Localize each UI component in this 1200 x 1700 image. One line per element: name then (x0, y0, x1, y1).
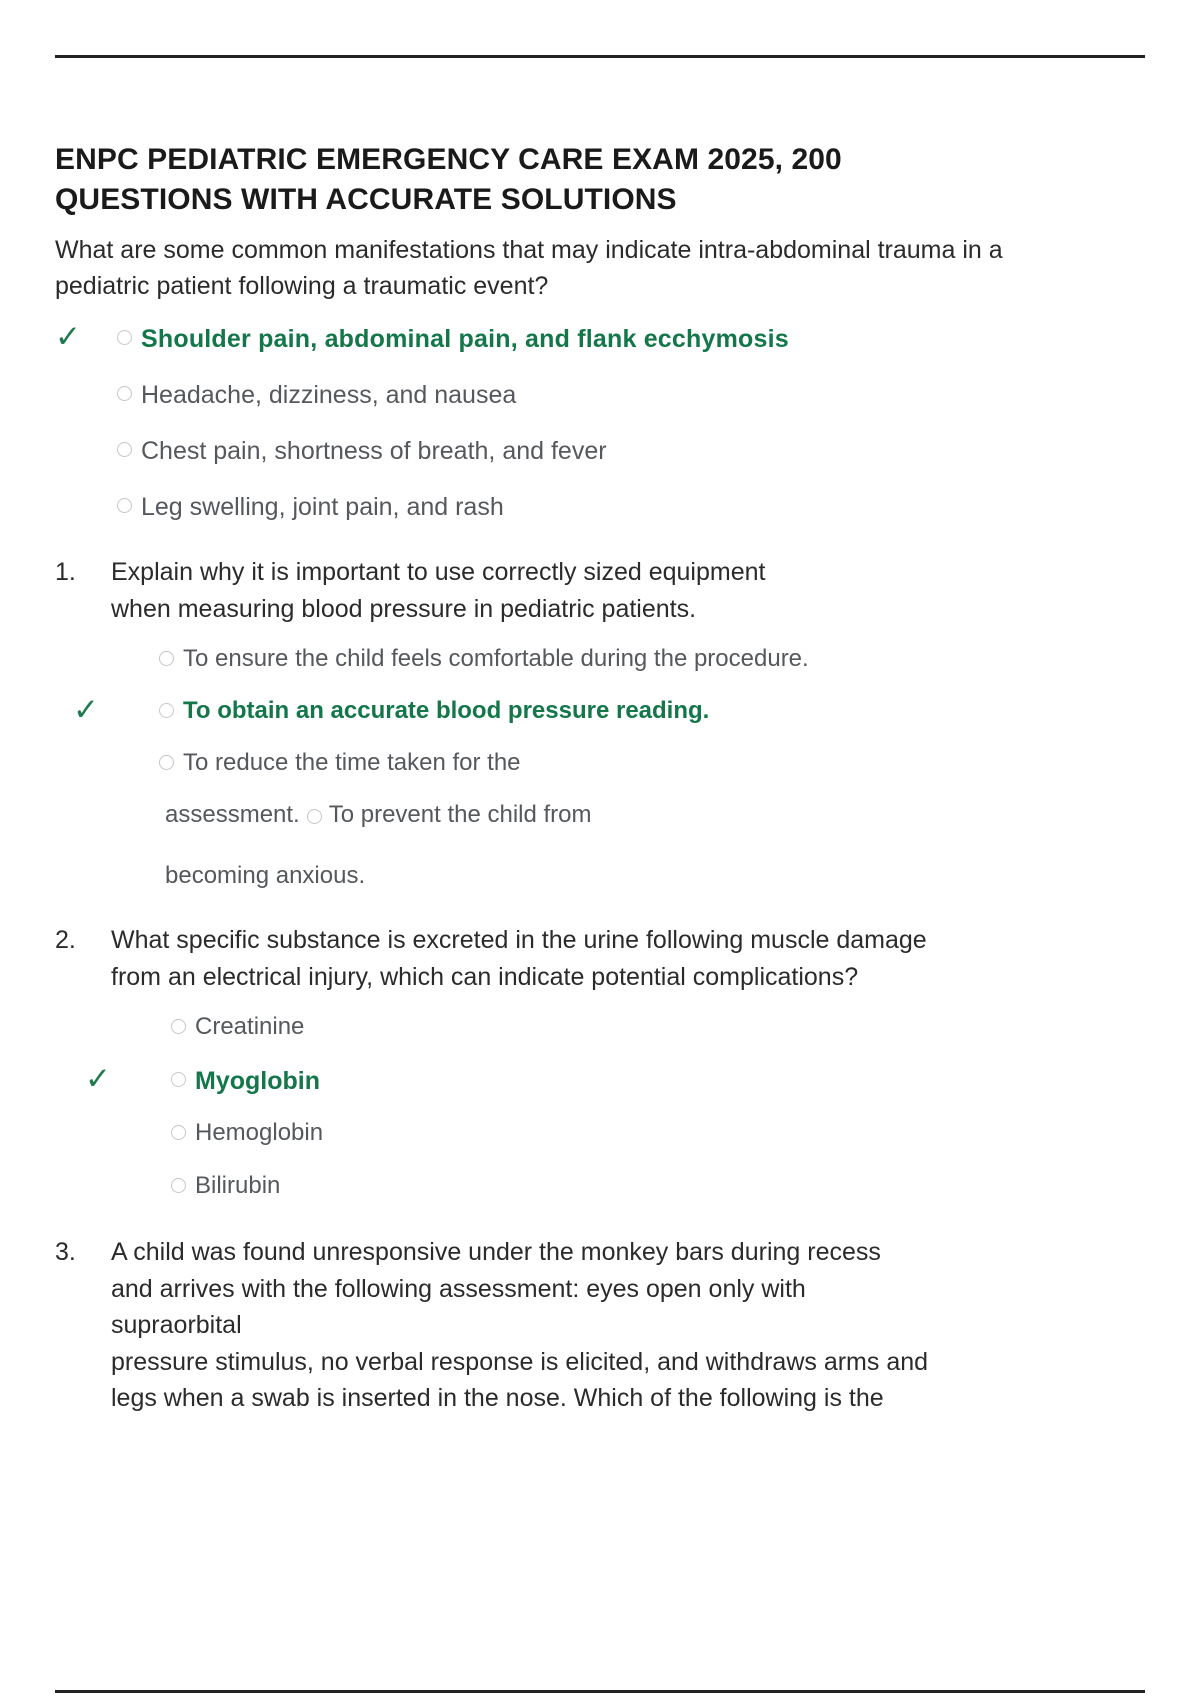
radio-icon[interactable] (117, 442, 132, 457)
correct-answer-indicator (73, 643, 159, 644)
continuation-text-before: becoming anxious. (165, 860, 365, 893)
question-prompt: What specific substance is excreted in t… (111, 922, 927, 995)
radio-icon[interactable] (171, 1019, 186, 1034)
question-prompt: Explain why it is important to use corre… (111, 554, 765, 627)
page-title: ENPC PEDIATRIC EMERGENCY CARE EXAM 2025,… (55, 140, 955, 219)
question-block-3: 3. A child was found unresponsive under … (55, 1234, 1145, 1417)
option-label: Leg swelling, joint pain, and rash (141, 490, 504, 524)
option-label: To obtain an accurate blood pressure rea… (183, 695, 709, 728)
question-number: 1. (55, 554, 111, 591)
option-row[interactable]: ✓ Myoglobin (85, 1064, 1145, 1098)
question-2-options: Creatinine ✓ Myoglobin Hemoglobin (55, 1011, 1145, 1204)
correct-answer-indicator: ✓ (85, 1064, 171, 1096)
question-prompt: A child was found unresponsive under the… (111, 1234, 928, 1417)
radio-icon[interactable] (159, 651, 174, 666)
option-row[interactable]: To ensure the child feels comfortable du… (73, 643, 1145, 677)
question-block-1: 1. Explain why it is important to use co… (55, 554, 1145, 892)
correct-answer-indicator: ✓ (73, 695, 159, 727)
correct-answer-indicator (85, 1011, 171, 1012)
lead-question-options: ✓ Shoulder pain, abdominal pain, and fla… (55, 322, 1145, 524)
radio-icon[interactable] (307, 809, 322, 824)
option-row[interactable]: Bilirubin (85, 1170, 1145, 1204)
continuation-text-before: assessment. (165, 799, 300, 832)
continuation-text-after: To prevent the child from (329, 799, 592, 832)
document-content: ENPC PEDIATRIC EMERGENCY CARE EXAM 2025,… (55, 140, 1145, 1417)
question-1-options: To ensure the child feels comfortable du… (55, 643, 1145, 781)
option-row[interactable]: To reduce the time taken for the (73, 747, 1145, 781)
correct-answer-indicator (55, 490, 117, 491)
option-row[interactable]: Hemoglobin (85, 1117, 1145, 1151)
correct-answer-indicator (55, 434, 117, 435)
option-continuation-line: becoming anxious. (165, 860, 1145, 893)
option-row[interactable]: Leg swelling, joint pain, and rash (55, 490, 1145, 524)
option-label: To ensure the child feels comfortable du… (183, 643, 809, 676)
check-icon: ✓ (55, 321, 81, 352)
correct-answer-indicator (85, 1117, 171, 1118)
question-number: 3. (55, 1234, 111, 1271)
radio-icon[interactable] (159, 703, 174, 718)
option-label: Shoulder pain, abdominal pain, and flank… (141, 322, 789, 356)
radio-icon[interactable] (117, 330, 132, 345)
radio-icon[interactable] (171, 1125, 186, 1140)
option-row[interactable]: Headache, dizziness, and nausea (55, 378, 1145, 412)
question-block-2: 2. What specific substance is excreted i… (55, 922, 1145, 1204)
option-label: Hemoglobin (195, 1117, 323, 1150)
correct-answer-indicator (73, 747, 159, 748)
radio-icon[interactable] (171, 1178, 186, 1193)
option-label: Creatinine (195, 1011, 304, 1044)
radio-icon[interactable] (117, 386, 132, 401)
option-label: To reduce the time taken for the (183, 747, 521, 780)
option-row[interactable]: ✓ To obtain an accurate blood pressure r… (73, 695, 1145, 729)
option-label: Chest pain, shortness of breath, and fev… (141, 434, 607, 468)
option-label: Myoglobin (195, 1064, 320, 1098)
question-heading: 3. A child was found unresponsive under … (55, 1234, 1145, 1417)
page-bottom-rule (55, 1690, 1145, 1693)
correct-answer-indicator (85, 1170, 171, 1171)
lead-question-prompt: What are some common manifestations that… (55, 233, 1005, 304)
question-heading: 2. What specific substance is excreted i… (55, 922, 1145, 995)
option-label: Headache, dizziness, and nausea (141, 378, 516, 412)
check-icon: ✓ (73, 694, 99, 725)
radio-icon[interactable] (159, 755, 174, 770)
question-heading: 1. Explain why it is important to use co… (55, 554, 1145, 627)
document-page: ENPC PEDIATRIC EMERGENCY CARE EXAM 2025,… (0, 0, 1200, 1700)
option-row[interactable]: Chest pain, shortness of breath, and fev… (55, 434, 1145, 468)
radio-icon[interactable] (117, 498, 132, 513)
check-icon: ✓ (85, 1063, 111, 1094)
page-top-rule (55, 55, 1145, 58)
correct-answer-indicator: ✓ (55, 322, 117, 354)
question-number: 2. (55, 922, 111, 959)
option-label: Bilirubin (195, 1170, 280, 1203)
option-row[interactable]: ✓ Shoulder pain, abdominal pain, and fla… (55, 322, 1145, 356)
option-continuation-line: assessment. To prevent the child from (165, 799, 1145, 832)
option-row[interactable]: Creatinine (85, 1011, 1145, 1045)
correct-answer-indicator (55, 378, 117, 379)
radio-icon[interactable] (171, 1072, 186, 1087)
